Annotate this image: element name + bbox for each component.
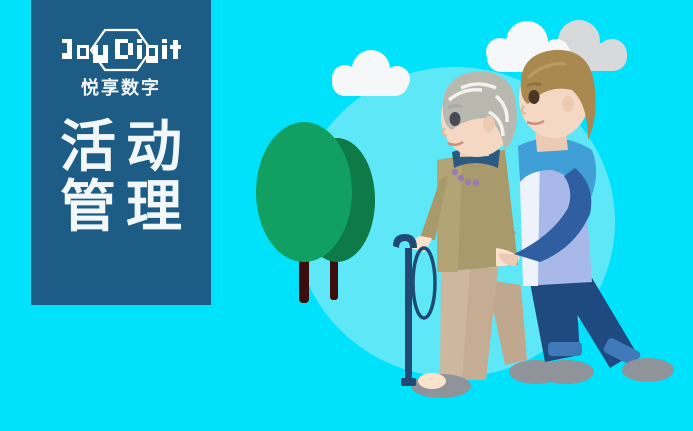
logo-subtitle: 悦享数字 [81, 79, 161, 99]
title-line-2: 管理 [50, 177, 192, 237]
cane-tip [401, 378, 416, 386]
activity-management-banner: 悦享数字 活动 管理 [0, 0, 693, 431]
woman-eye [450, 112, 461, 126]
man-front-cuff [548, 342, 582, 356]
page-title: 活动 管理 [31, 117, 211, 238]
man-eye [529, 90, 540, 104]
man-back-shoe [622, 358, 674, 382]
man-front-shoe [538, 360, 594, 384]
title-line-1: 活动 [50, 117, 192, 177]
logo-block: 悦享数字 [31, 27, 211, 99]
joydigit-logo-icon [57, 27, 185, 73]
title-panel: 悦享数字 活动 管理 [31, 0, 211, 305]
